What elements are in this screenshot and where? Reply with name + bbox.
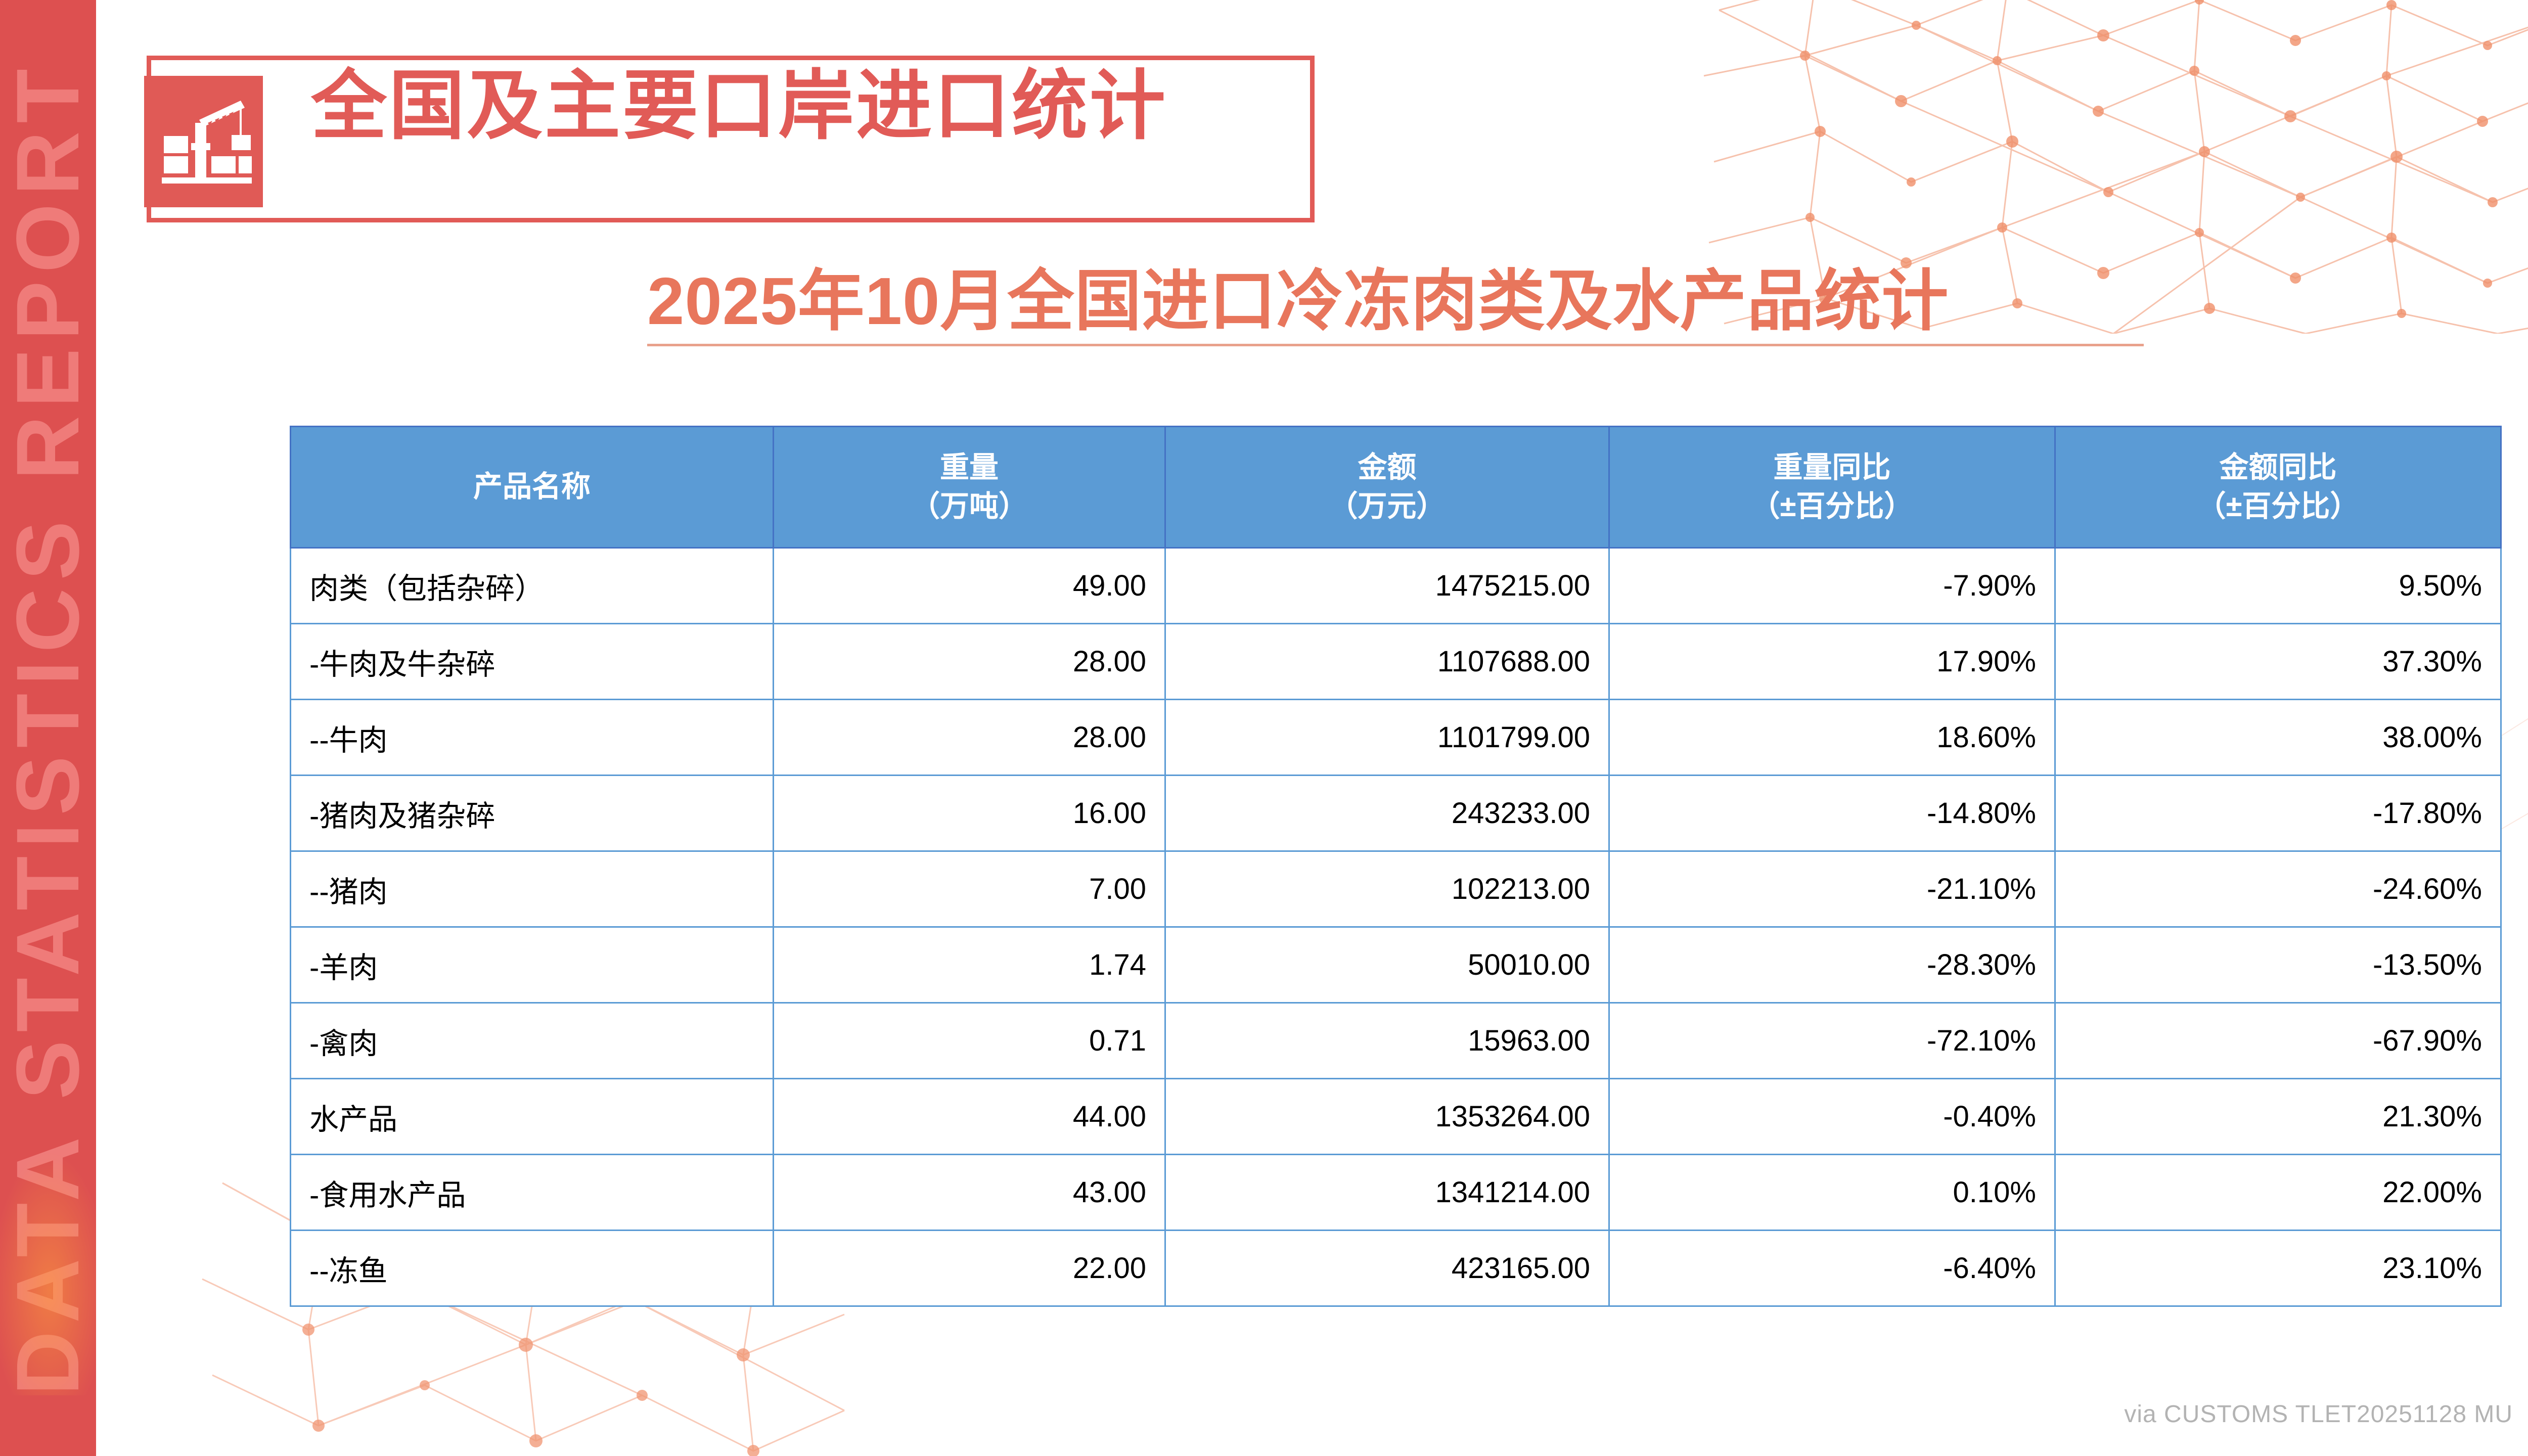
subtitle-underline (647, 344, 2144, 346)
table-row: --冻鱼22.00423165.00-6.40%23.10% (291, 1231, 2501, 1306)
cell-weight-yoy: 17.90% (1609, 624, 2055, 700)
table-row: -猪肉及猪杂碎16.00243233.00-14.80%-17.80% (291, 776, 2501, 851)
cell-amount-yoy: 37.30% (2055, 624, 2501, 700)
column-header-weight-main: 重量 (940, 451, 999, 484)
cell-product-name: 水产品 (291, 1079, 774, 1155)
cell-weight: 22.00 (774, 1231, 1165, 1306)
logo-box (144, 76, 263, 207)
column-header-product: 产品名称 (291, 427, 774, 548)
cell-product-name: -羊肉 (291, 927, 774, 1003)
cell-product-name: --冻鱼 (291, 1231, 774, 1306)
subtitle-block: 2025年10月全国进口冷冻肉类及水产品统计 (647, 263, 2225, 346)
table-row: 肉类（包括杂碎）49.001475215.00-7.90%9.50% (291, 548, 2501, 624)
cell-product-name: -牛肉及牛杂碎 (291, 624, 774, 700)
cell-amount: 423165.00 (1165, 1231, 1609, 1306)
footer-source-note: via CUSTOMS TLET20251128 MU (2124, 1400, 2513, 1428)
cell-amount-yoy: 23.10% (2055, 1231, 2501, 1306)
cell-amount: 1341214.00 (1165, 1155, 1609, 1231)
column-header-amount-main: 金额 (1358, 451, 1416, 484)
cell-amount: 50010.00 (1165, 927, 1609, 1003)
slide-canvas: DATA STATISTICS REPORT (0, 0, 2528, 1456)
cell-weight-yoy: -0.40% (1609, 1079, 2055, 1155)
cell-amount: 1107688.00 (1165, 624, 1609, 700)
table-header-row: 产品名称 重量 （万吨） 金额 （万元） 重量同比 （±百分比） 金额同比 （±… (291, 427, 2501, 548)
cell-amount-yoy: 38.00% (2055, 700, 2501, 776)
cell-weight-yoy: -21.10% (1609, 851, 2055, 927)
table-header: 产品名称 重量 （万吨） 金额 （万元） 重量同比 （±百分比） 金额同比 （±… (291, 427, 2501, 548)
left-red-sidebar: DATA STATISTICS REPORT (0, 0, 96, 1456)
column-header-weight-yoy: 重量同比 （±百分比） (1609, 427, 2055, 548)
table-row: 水产品44.001353264.00-0.40%21.30% (291, 1079, 2501, 1155)
cell-weight-yoy: -6.40% (1609, 1231, 2055, 1306)
cell-amount: 102213.00 (1165, 851, 1609, 927)
column-header-product-main: 产品名称 (473, 470, 591, 503)
cell-weight: 16.00 (774, 776, 1165, 851)
cell-weight-yoy: -72.10% (1609, 1003, 2055, 1079)
cell-weight: 1.74 (774, 927, 1165, 1003)
column-header-weight: 重量 （万吨） (774, 427, 1165, 548)
cell-amount-yoy: -13.50% (2055, 927, 2501, 1003)
column-header-amount: 金额 （万元） (1165, 427, 1609, 548)
table-body: 肉类（包括杂碎）49.001475215.00-7.90%9.50%-牛肉及牛杂… (291, 548, 2501, 1306)
cell-amount: 1475215.00 (1165, 548, 1609, 624)
column-header-amount-yoy-unit: （±百分比） (2061, 487, 2495, 526)
cell-amount-yoy: -17.80% (2055, 776, 2501, 851)
cell-amount: 1353264.00 (1165, 1079, 1609, 1155)
cell-weight-yoy: -28.30% (1609, 927, 2055, 1003)
cell-product-name: -猪肉及猪杂碎 (291, 776, 774, 851)
table-row: --猪肉7.00102213.00-21.10%-24.60% (291, 851, 2501, 927)
table-row: -禽肉0.7115963.00-72.10%-67.90% (291, 1003, 2501, 1079)
page-title: 全国及主要口岸进口统计 (311, 68, 1167, 144)
cell-weight: 7.00 (774, 851, 1165, 927)
cell-weight: 28.00 (774, 624, 1165, 700)
column-header-weight-yoy-unit: （±百分比） (1615, 487, 2049, 526)
cell-weight-yoy: 18.60% (1609, 700, 2055, 776)
cell-amount-yoy: 22.00% (2055, 1155, 2501, 1231)
column-header-amount-yoy: 金额同比 （±百分比） (2055, 427, 2501, 548)
cell-weight: 43.00 (774, 1155, 1165, 1231)
table-row: -羊肉1.7450010.00-28.30%-13.50% (291, 927, 2501, 1003)
subtitle-text: 2025年10月全国进口冷冻肉类及水产品统计 (647, 263, 2225, 340)
cell-amount-yoy: 21.30% (2055, 1079, 2501, 1155)
cell-weight: 49.00 (774, 548, 1165, 624)
cell-amount-yoy: 9.50% (2055, 548, 2501, 624)
cell-amount: 15963.00 (1165, 1003, 1609, 1079)
cell-weight-yoy: -14.80% (1609, 776, 2055, 851)
table-row: -牛肉及牛杂碎28.001107688.0017.90%37.30% (291, 624, 2501, 700)
column-header-amount-unit: （万元） (1171, 487, 1603, 526)
cell-product-name: 肉类（包括杂碎） (291, 548, 774, 624)
cell-amount-yoy: -24.60% (2055, 851, 2501, 927)
cell-product-name: --牛肉 (291, 700, 774, 776)
cell-product-name: -禽肉 (291, 1003, 774, 1079)
cell-weight: 44.00 (774, 1079, 1165, 1155)
cell-product-name: --猪肉 (291, 851, 774, 927)
column-header-weight-yoy-main: 重量同比 (1773, 451, 1890, 484)
cell-weight-yoy: -7.90% (1609, 548, 2055, 624)
table-row: --牛肉28.001101799.0018.60%38.00% (291, 700, 2501, 776)
port-crane-icon (156, 94, 252, 190)
column-header-weight-unit: （万吨） (779, 487, 1159, 526)
cell-product-name: -食用水产品 (291, 1155, 774, 1231)
table-row: -食用水产品43.001341214.000.10%22.00% (291, 1155, 2501, 1231)
import-statistics-table: 产品名称 重量 （万吨） 金额 （万元） 重量同比 （±百分比） 金额同比 （±… (290, 426, 2502, 1307)
sidebar-vertical-text: DATA STATISTICS REPORT (0, 61, 96, 1395)
column-header-amount-yoy-main: 金额同比 (2219, 451, 2336, 484)
cell-weight: 0.71 (774, 1003, 1165, 1079)
cell-amount: 1101799.00 (1165, 700, 1609, 776)
cell-amount-yoy: -67.90% (2055, 1003, 2501, 1079)
cell-weight-yoy: 0.10% (1609, 1155, 2055, 1231)
cell-weight: 28.00 (774, 700, 1165, 776)
cell-amount: 243233.00 (1165, 776, 1609, 851)
